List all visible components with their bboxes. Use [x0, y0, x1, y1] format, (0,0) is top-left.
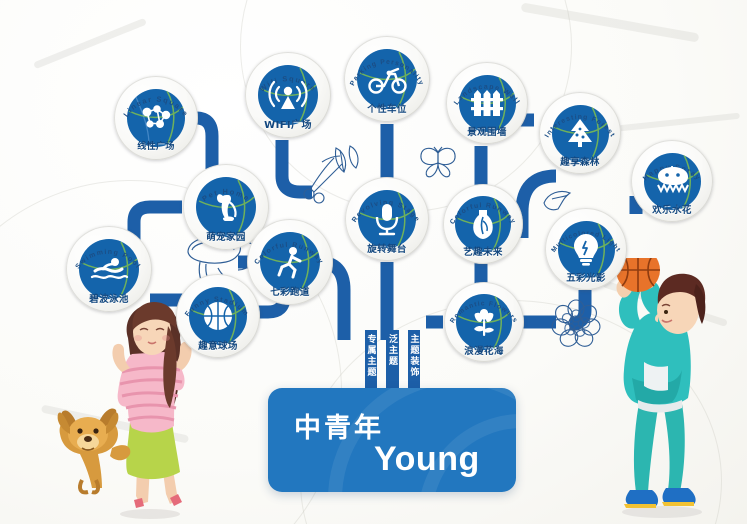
paper-texture-streak: [600, 113, 740, 134]
main-title-card[interactable]: 中青年 Young: [268, 388, 516, 492]
node-interesting-forest[interactable]: Interesting Forest 趣享森林: [539, 92, 621, 174]
category-label: 专属主题: [365, 330, 378, 378]
paper-texture-streak: [602, 280, 728, 327]
category-label: 泛主题: [386, 330, 399, 367]
node-linear-square[interactable]: Linear Square 线性广场: [114, 76, 198, 160]
node-swimming-pool[interactable]: Swimming Pool 碧波泳池: [66, 226, 152, 312]
node-happy-spray[interactable]: Happy Spray 欢乐水花: [631, 140, 713, 222]
node-art-future[interactable]: Colorful Runway 艺趣未来: [443, 184, 523, 264]
node-multicolored-light[interactable]: Multicolored Light 五彩光影: [545, 208, 627, 290]
category-strip-exclusive-theme[interactable]: 专属主题: [365, 330, 377, 390]
category-label: 主题装饰: [408, 330, 421, 378]
title-english: Young: [374, 440, 480, 479]
node-wifi-square[interactable]: Wifi Square WIFI广场: [245, 52, 331, 138]
node-revolving-stage[interactable]: Revolving Stage 旋转舞台: [345, 177, 429, 261]
node-romantic-flowers[interactable]: Romantic Flowers 浪漫花海: [444, 282, 524, 362]
title-chinese: 中青年: [294, 406, 384, 445]
node-colorful-runway[interactable]: Colorful Runway 七彩跑道: [247, 219, 333, 305]
category-strip-theme-decoration[interactable]: 主题装饰: [408, 330, 420, 390]
category-strip-general-theme[interactable]: 泛主题: [386, 330, 399, 390]
infographic-canvas: 专属主题 泛主题 主题装饰 中青年 Young: [0, 0, 747, 524]
paper-texture-streak: [33, 18, 147, 69]
node-landscape-wall[interactable]: Landscape Wall 景观围墙: [446, 62, 528, 144]
node-funny-stadium[interactable]: Funny Stadium 趣意球场: [176, 274, 260, 358]
node-parking-personality[interactable]: Parking Personality 个性车位: [344, 36, 430, 122]
